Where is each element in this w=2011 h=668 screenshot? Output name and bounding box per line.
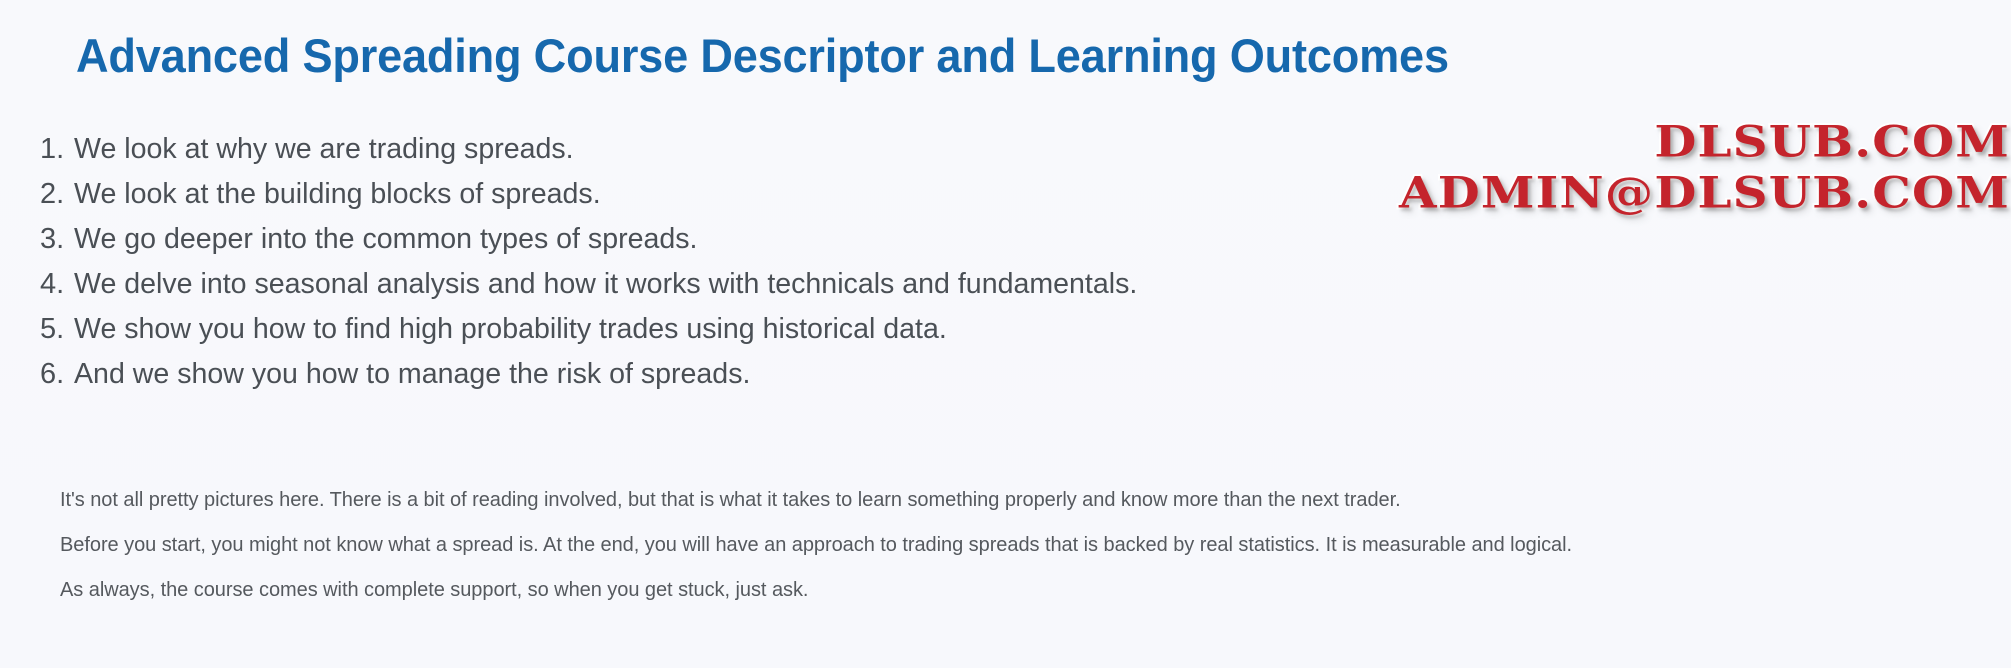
list-item-label: We look at the building blocks of spread… bbox=[74, 178, 601, 211]
list-item-number: 4. bbox=[40, 268, 74, 301]
list-item-label: And we show you how to manage the risk o… bbox=[74, 358, 750, 391]
list-item-label: We go deeper into the common types of sp… bbox=[74, 223, 698, 256]
list-item: 4. We delve into seasonal analysis and h… bbox=[40, 268, 1290, 313]
watermark-site-label: DLSUB.COM bbox=[1196, 121, 2010, 164]
list-item-label: We look at why we are trading spreads. bbox=[74, 133, 574, 166]
learning-outcomes-list: 1. We look at why we are trading spreads… bbox=[40, 133, 1290, 403]
note-paragraph: It's not all pretty pictures here. There… bbox=[60, 489, 2005, 511]
slide-canvas: Advanced Spreading Course Descriptor and… bbox=[0, 0, 2011, 668]
list-item-number: 5. bbox=[40, 313, 74, 346]
list-item-label: We delve into seasonal analysis and how … bbox=[74, 268, 1137, 301]
watermark: DLSUB.COM ADMIN@DLSUB.COM bbox=[1320, 122, 2010, 214]
list-item-number: 3. bbox=[40, 223, 74, 256]
list-item-number: 1. bbox=[40, 133, 74, 166]
list-item: 3. We go deeper into the common types of… bbox=[40, 223, 1290, 268]
list-item: 2. We look at the building blocks of spr… bbox=[40, 178, 1290, 223]
list-item: 6. And we show you how to manage the ris… bbox=[40, 358, 1290, 403]
list-item-label: We show you how to find high probability… bbox=[74, 313, 947, 346]
list-item-number: 2. bbox=[40, 178, 74, 211]
notes-block: It's not all pretty pictures here. There… bbox=[60, 489, 2005, 601]
watermark-email-label: ADMIN@DLSUB.COM bbox=[1196, 172, 2010, 215]
list-item: 5. We show you how to find high probabil… bbox=[40, 313, 1290, 358]
note-paragraph: Before you start, you might not know wha… bbox=[60, 534, 2005, 556]
page-title: Advanced Spreading Course Descriptor and… bbox=[76, 28, 1449, 83]
list-item: 1. We look at why we are trading spreads… bbox=[40, 133, 1290, 178]
list-item-number: 6. bbox=[40, 358, 74, 391]
note-paragraph: As always, the course comes with complet… bbox=[60, 579, 2005, 601]
